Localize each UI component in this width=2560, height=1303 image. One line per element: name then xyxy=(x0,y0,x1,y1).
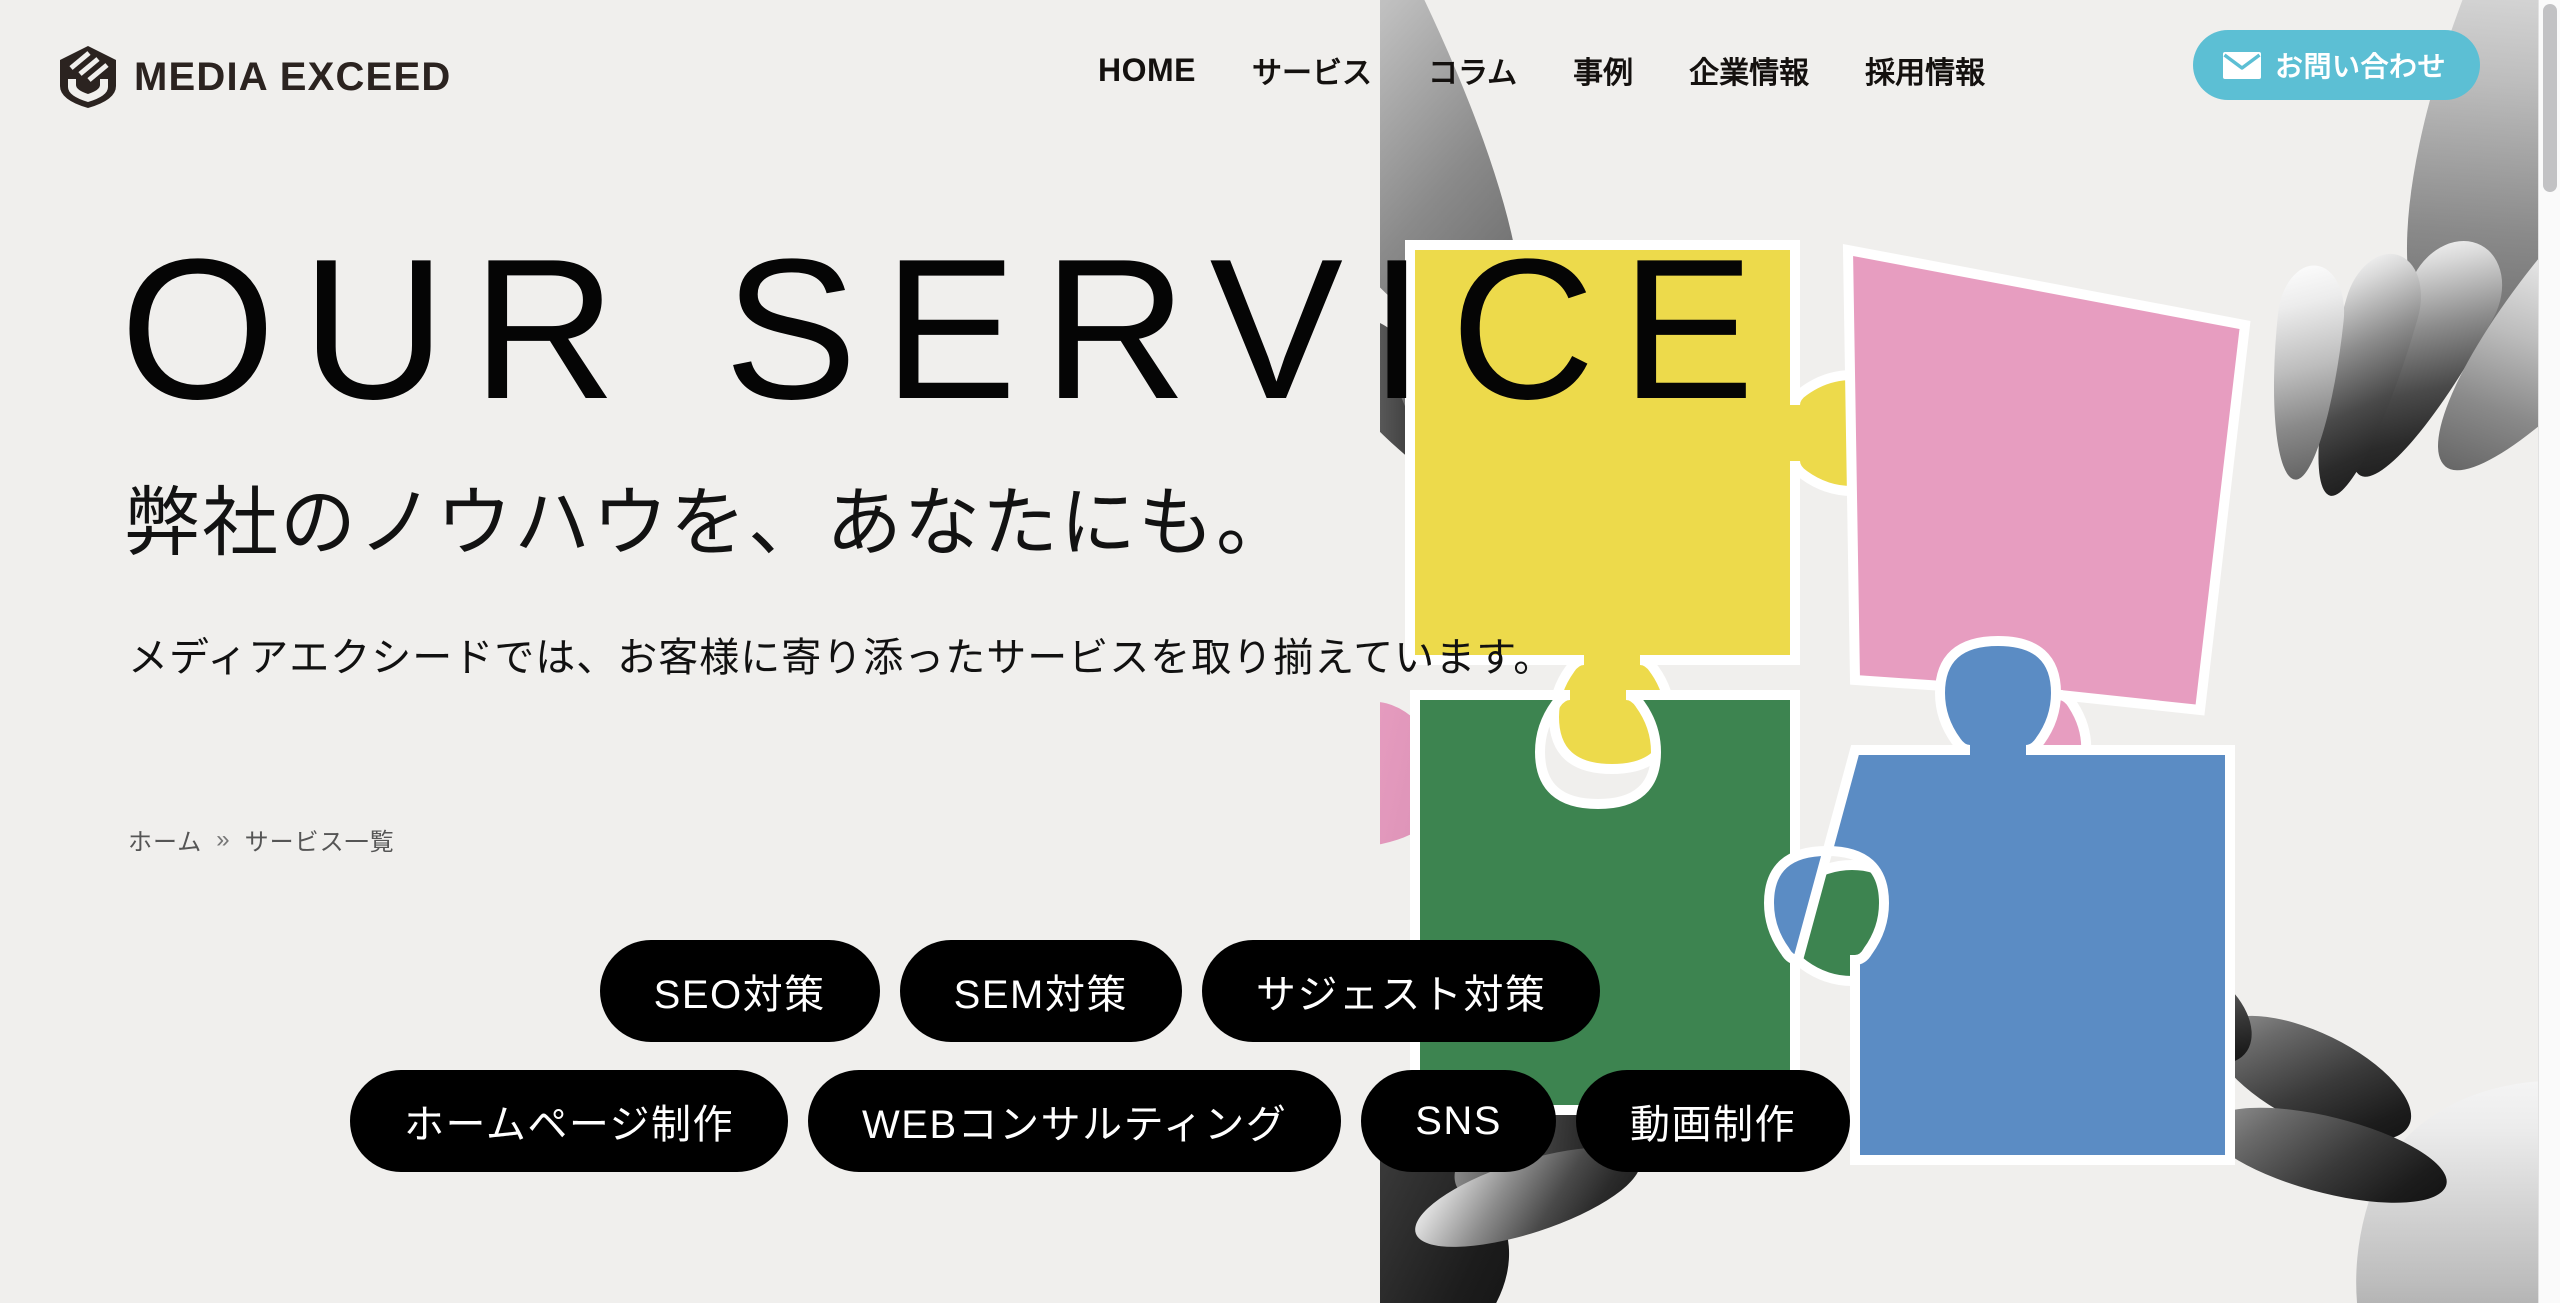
service-links-row-1: SEO対策 SEM対策 サジェスト対策 xyxy=(600,940,1601,1042)
nav-item-careers[interactable]: 採用情報 xyxy=(1837,48,2013,92)
nav-item-home[interactable]: HOME xyxy=(1070,52,1224,89)
vertical-scrollbar[interactable] xyxy=(2538,0,2560,1303)
brand-name: MEDIA EXCEED xyxy=(134,55,451,100)
service-links: SEO対策 SEM対策 サジェスト対策 ホームページ制作 WEBコンサルティング… xyxy=(0,940,2200,1172)
service-pill-seo[interactable]: SEO対策 xyxy=(600,940,880,1042)
service-pill-homepage[interactable]: ホームページ制作 xyxy=(350,1070,788,1172)
nav-item-cases[interactable]: 事例 xyxy=(1545,48,1661,92)
breadcrumb: ホーム » サービス一覧 xyxy=(128,822,395,857)
hero-subtitle: 弊社のノウハウを、あなたにも。 xyxy=(124,480,1294,567)
brand-logo[interactable]: MEDIA EXCEED xyxy=(60,46,451,108)
service-pill-video[interactable]: 動画制作 xyxy=(1576,1070,1850,1172)
page-root: MEDIA EXCEED HOME サービス コラム 事例 企業情報 採用情報 … xyxy=(0,0,2560,1303)
site-header: MEDIA EXCEED HOME サービス コラム 事例 企業情報 採用情報 … xyxy=(0,0,2560,155)
breadcrumb-item-current: サービス一覧 xyxy=(245,822,395,857)
contact-button-label: お問い合わせ xyxy=(2275,45,2446,85)
service-pill-suggest[interactable]: サジェスト対策 xyxy=(1202,940,1601,1042)
nav-item-column[interactable]: コラム xyxy=(1400,48,1545,92)
service-pill-sns[interactable]: SNS xyxy=(1361,1070,1556,1172)
service-pill-sem[interactable]: SEM対策 xyxy=(900,940,1182,1042)
nav-item-company[interactable]: 企業情報 xyxy=(1661,48,1837,92)
shield-logo-icon xyxy=(60,46,116,108)
service-links-row-2: ホームページ制作 WEBコンサルティング SNS 動画制作 xyxy=(350,1070,1850,1172)
nav-item-service[interactable]: サービス xyxy=(1224,48,1400,92)
main-navigation: HOME サービス コラム 事例 企業情報 採用情報 xyxy=(1070,48,2013,92)
contact-button[interactable]: お問い合わせ xyxy=(2193,30,2480,100)
breadcrumb-separator: » xyxy=(216,826,230,854)
scrollbar-thumb[interactable] xyxy=(2543,4,2557,192)
hero-lead-text: メディアエクシードでは、お客様に寄り添ったサービスを取り揃えています。 xyxy=(128,630,1554,686)
envelope-icon xyxy=(2223,52,2261,79)
page-title: OUR SERVICE xyxy=(120,230,1780,430)
service-pill-webconsul[interactable]: WEBコンサルティング xyxy=(808,1070,1341,1172)
breadcrumb-item-home[interactable]: ホーム xyxy=(128,822,202,857)
